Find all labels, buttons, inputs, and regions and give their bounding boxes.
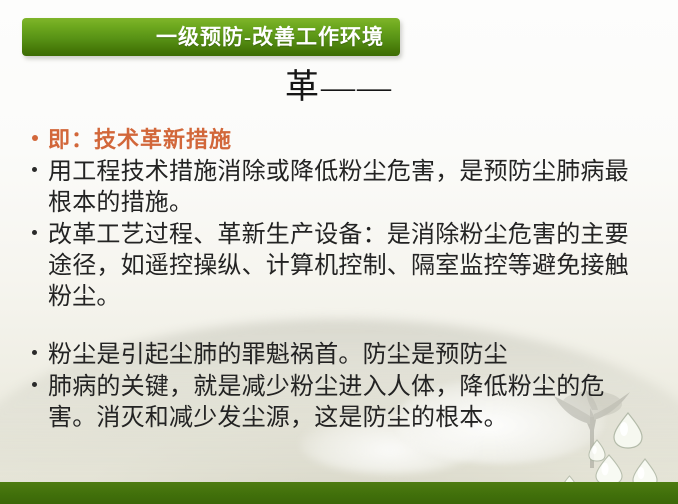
water-droplet-icon-small [588, 438, 606, 462]
bullet-text-2: 用工程技术措施消除或降低粉尘危害，是预防尘肺病最根本的措施。 [48, 157, 648, 219]
title-banner: 一级预防-改善工作环境 [22, 18, 400, 56]
subtitle-heading: 革—— [0, 68, 678, 107]
bullet-marker-icon [26, 372, 48, 403]
slide-canvas: 一级预防-改善工作环境 革—— 即：技术革新措施 用工程技术措施消除或降低粉尘危… [0, 0, 678, 504]
title-banner-label: 一级预防-改善工作环境 [156, 27, 384, 48]
bullet-marker-icon [26, 220, 48, 251]
bullet-item-1: 即：技术革新措施 [26, 126, 648, 157]
bullet-marker-icon [26, 157, 48, 188]
bullet-item-2: 用工程技术措施消除或降低粉尘危害，是预防尘肺病最根本的措施。 [26, 157, 648, 219]
bullet-text-4: 粉尘是引起尘肺的罪魁祸首。防尘是预防尘 [48, 340, 648, 371]
bullet-marker-icon [26, 340, 48, 371]
bullet-item-4: 粉尘是引起尘肺的罪魁祸首。防尘是预防尘 [26, 340, 648, 371]
bullet-text-5: 肺病的关键，就是减少粉尘进入人体，降低粉尘的危害。消灭和减少发尘源，这是防尘的根… [48, 372, 648, 434]
bullet-item-3: 改革工艺过程、革新生产设备：是消除粉尘危害的主要途径，如遥控操纵、计算机控制、隔… [26, 220, 648, 314]
bullet-text-1: 即：技术革新措施 [48, 126, 648, 155]
bottom-green-strip [0, 482, 678, 504]
bullet-text-3: 改革工艺过程、革新生产设备：是消除粉尘危害的主要途径，如遥控操纵、计算机控制、隔… [48, 220, 648, 314]
bullet-marker-icon [26, 126, 48, 157]
bullet-list: 即：技术革新措施 用工程技术措施消除或降低粉尘危害，是预防尘肺病最根本的措施。 … [26, 126, 648, 434]
bullet-item-5: 肺病的关键，就是减少粉尘进入人体，降低粉尘的危害。消灭和减少发尘源，这是防尘的根… [26, 372, 648, 434]
